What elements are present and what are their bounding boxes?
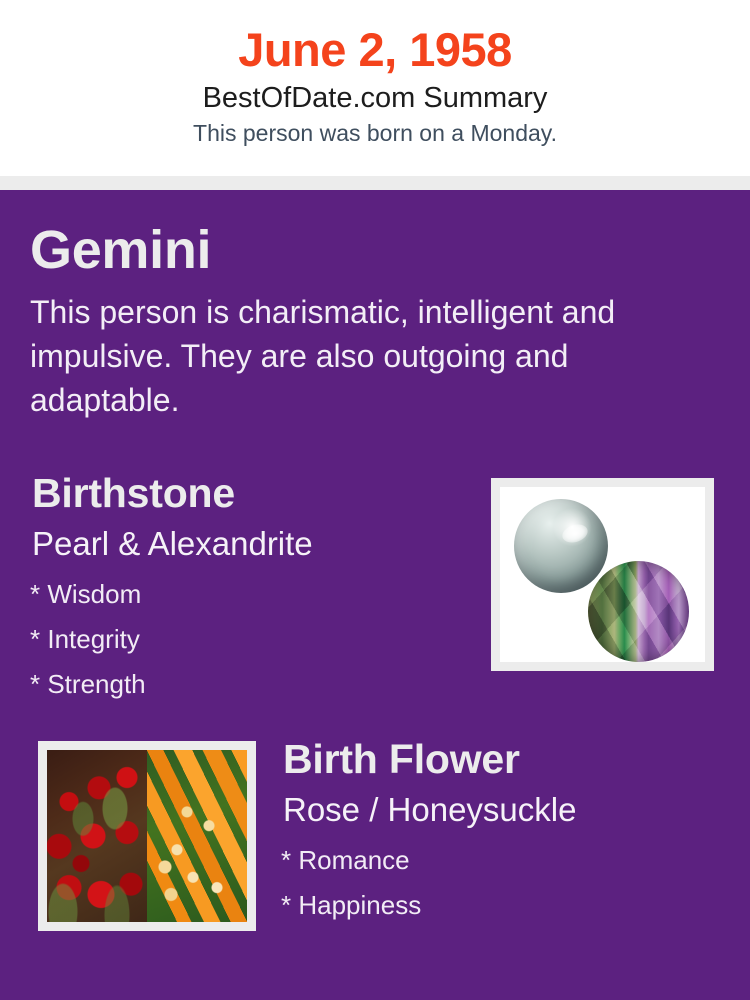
- birthstone-value: Pearl & Alexandrite: [32, 527, 313, 560]
- birthstone-trait-list: * Wisdom * Integrity * Strength: [30, 572, 146, 707]
- list-item: * Wisdom: [30, 572, 146, 617]
- zodiac-sign-heading: Gemini: [30, 223, 211, 277]
- summary-card: June 2, 1958 BestOfDate.com Summary This…: [0, 0, 750, 1000]
- site-summary-label: BestOfDate.com Summary: [0, 77, 750, 115]
- birth-day-note: This person was born on a Monday.: [0, 116, 750, 147]
- header: June 2, 1958 BestOfDate.com Summary This…: [0, 0, 750, 176]
- birth-flower-value: Rose / Honeysuckle: [283, 793, 576, 826]
- birth-flower-image-frame: [38, 741, 256, 931]
- list-item: * Happiness: [281, 883, 421, 928]
- roses-photo-half: [47, 750, 147, 922]
- birth-flower-trait-list: * Romance * Happiness: [281, 838, 421, 928]
- page-title-date: June 2, 1958: [0, 0, 750, 77]
- details-panel: Gemini This person is charismatic, intel…: [0, 190, 750, 1000]
- alexandrite-gem-icon: [588, 561, 689, 662]
- list-item: * Romance: [281, 838, 421, 883]
- birthstone-image-frame: [491, 478, 714, 671]
- birthstone-heading: Birthstone: [32, 473, 235, 514]
- birthstone-photo: [500, 487, 705, 662]
- header-divider: [0, 176, 750, 190]
- birth-flower-heading: Birth Flower: [283, 739, 520, 780]
- list-item: * Strength: [30, 662, 146, 707]
- zodiac-description: This person is charismatic, intelligent …: [30, 290, 690, 422]
- honeysuckle-photo-half: [147, 750, 247, 922]
- birth-flower-photo: [47, 750, 247, 922]
- list-item: * Integrity: [30, 617, 146, 662]
- gem-rim: [588, 561, 689, 662]
